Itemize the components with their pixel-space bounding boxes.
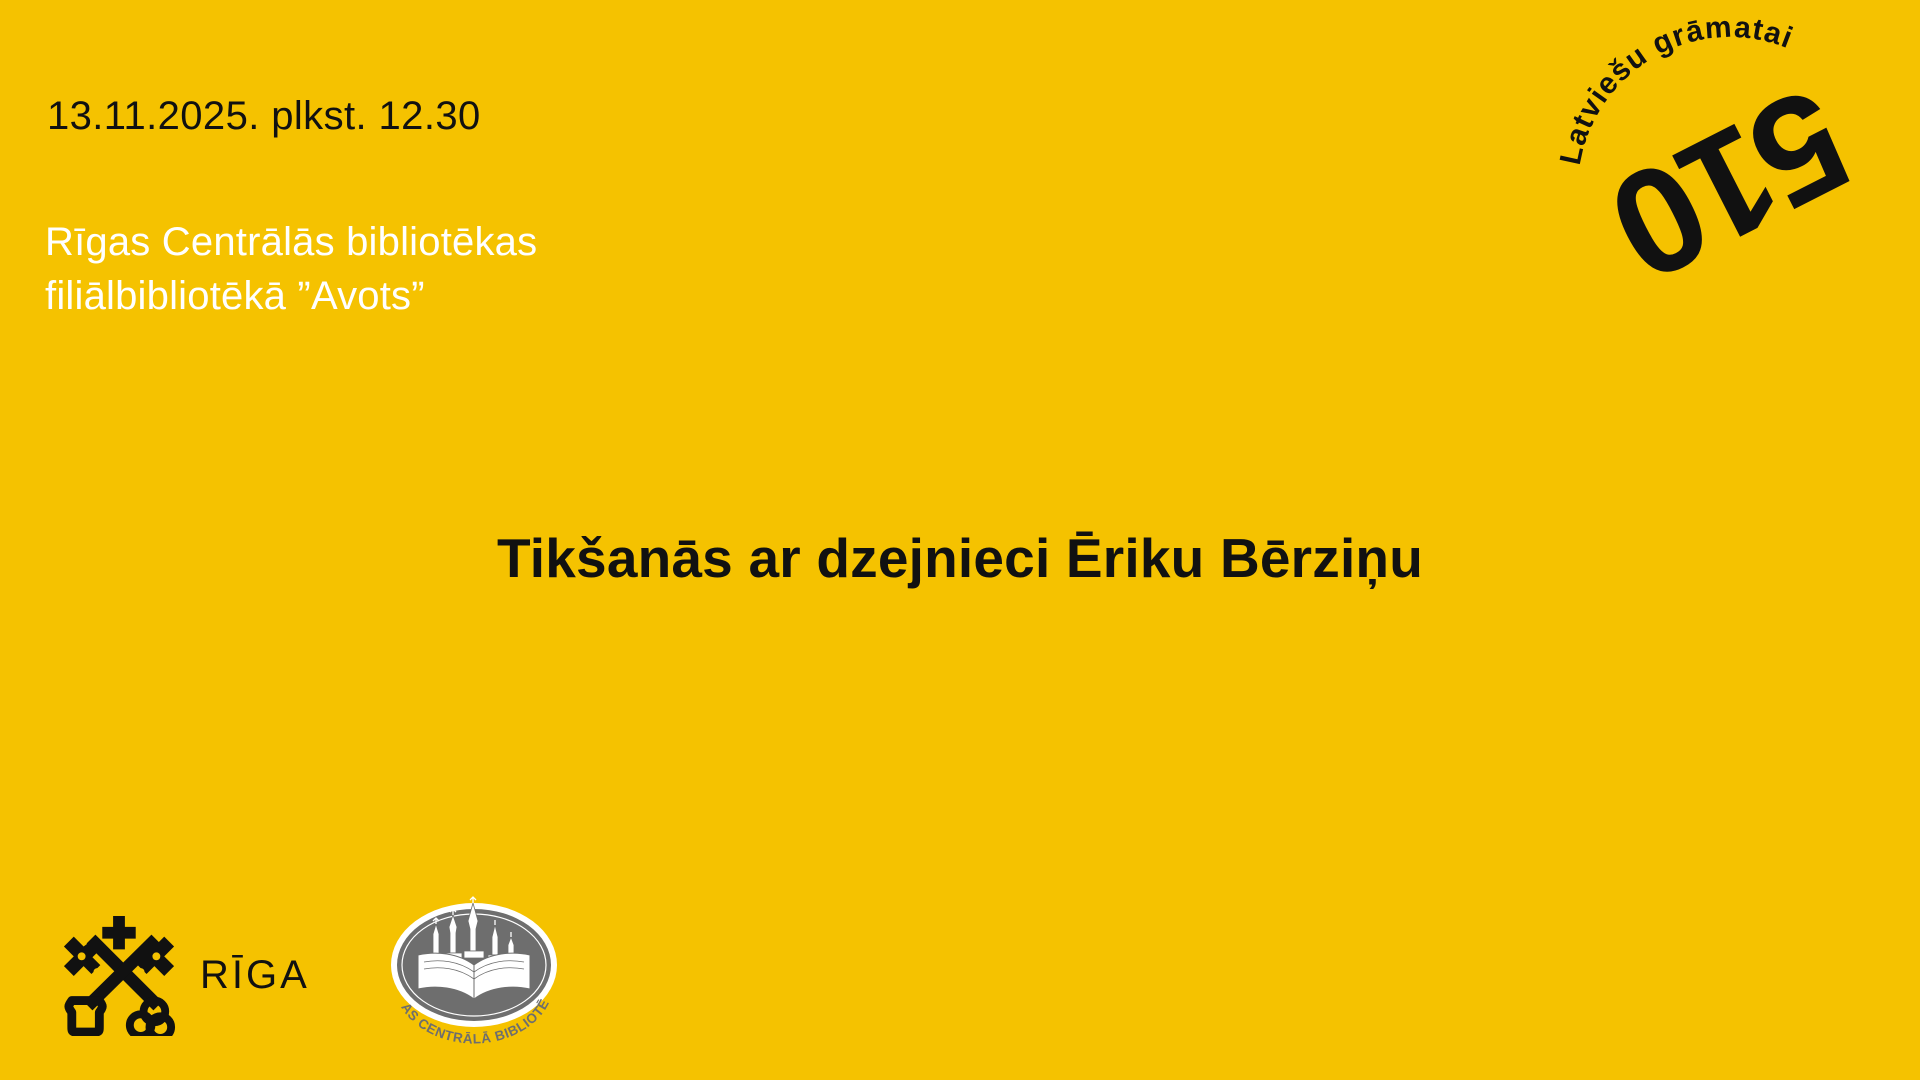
crossed-keys-icon: [60, 914, 178, 1036]
riga-city-logo: RĪGA: [60, 914, 310, 1036]
event-venue: Rīgas Centrālās bibliotēkas filiālbiblio…: [45, 215, 537, 324]
footer-logos: RĪGA: [60, 900, 560, 1050]
venue-line-2: filiālbibliotēkā ”Avots”: [45, 269, 537, 323]
event-poster: 13.11.2025. plkst. 12.30 Rīgas Centrālās…: [0, 0, 1920, 1080]
riga-central-library-logo-icon: RĪGAS CENTRĀLĀ BIBLIOTĒKA: [388, 893, 560, 1058]
event-title: Tikšanās ar dzejnieci Ēriku Bērziņu: [0, 526, 1920, 590]
anniversary-stamp-510-icon: Latviešu grāmatai 510: [1556, 8, 1896, 338]
venue-line-1: Rīgas Centrālās bibliotēkas: [45, 215, 537, 269]
event-datetime: 13.11.2025. plkst. 12.30: [47, 94, 481, 139]
stamp-number: 510: [1588, 55, 1874, 312]
riga-wordmark: RĪGA: [200, 953, 310, 998]
